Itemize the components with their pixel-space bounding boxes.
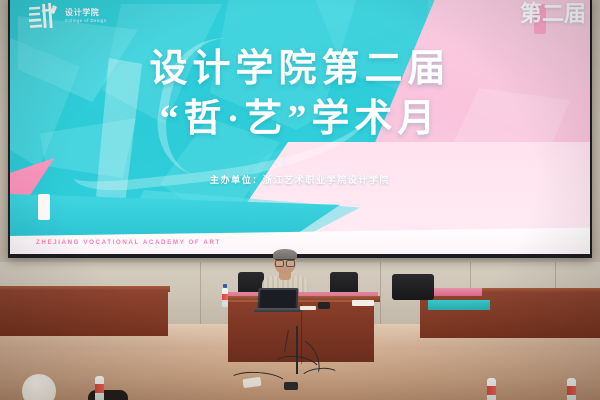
water-bottle [222, 288, 228, 307]
logo-en-label: College of Design [65, 19, 107, 23]
eyeglasses [275, 259, 295, 264]
power-adapter [284, 382, 298, 390]
teal-table-cloth [428, 300, 490, 310]
zhe-character-logo-icon [28, 2, 58, 30]
water-bottle [487, 378, 496, 400]
slide-footer-english: ZHEJIANG VOCATIONAL ACADEMY OF ART [36, 239, 221, 246]
podium-desk-right [420, 292, 600, 338]
bottle-label [222, 294, 228, 300]
slide-subtitle: 主办单位：浙江艺术职业学院设计学院 [10, 173, 590, 186]
bottle-label [95, 384, 104, 393]
paper-sheet [352, 300, 374, 306]
conference-chair [392, 274, 434, 300]
podium-desk-left [0, 290, 168, 336]
laptop-base [254, 308, 302, 312]
slide-edge-text: 第二届 [520, 2, 586, 25]
wall-panel-seam [380, 262, 381, 324]
water-bottle [95, 376, 104, 400]
bottle-label [487, 386, 496, 395]
laptop [257, 288, 298, 310]
slide-title-line-2: “哲·艺”学术月 [10, 100, 590, 138]
slide-title-block: 设计学院第二届 “哲·艺”学术月 [10, 50, 590, 138]
lecture-hall-photo: 设计学院 College of Design 第二届 设计学院第二届 “哲·艺”… [0, 0, 600, 400]
laptop-screen [260, 290, 297, 308]
audience-head [22, 374, 56, 400]
college-logo: 设计学院 College of Design [28, 2, 107, 30]
wall-panel-seam [200, 262, 201, 324]
paper-sheet [300, 306, 316, 310]
logo-cn-label: 设计学院 [65, 9, 107, 17]
projection-screen: 设计学院 College of Design 第二届 设计学院第二届 “哲·艺”… [8, 0, 592, 258]
bottle-label [567, 386, 576, 395]
presentation-slide: 设计学院 College of Design 第二届 设计学院第二届 “哲·艺”… [10, 0, 590, 254]
microphone-base [318, 302, 330, 309]
white-accent-bar [38, 194, 50, 220]
water-bottle [567, 378, 576, 400]
logo-text-block: 设计学院 College of Design [65, 9, 107, 23]
audience-head [88, 390, 128, 400]
slide-title-line-1: 设计学院第二届 [10, 50, 590, 88]
